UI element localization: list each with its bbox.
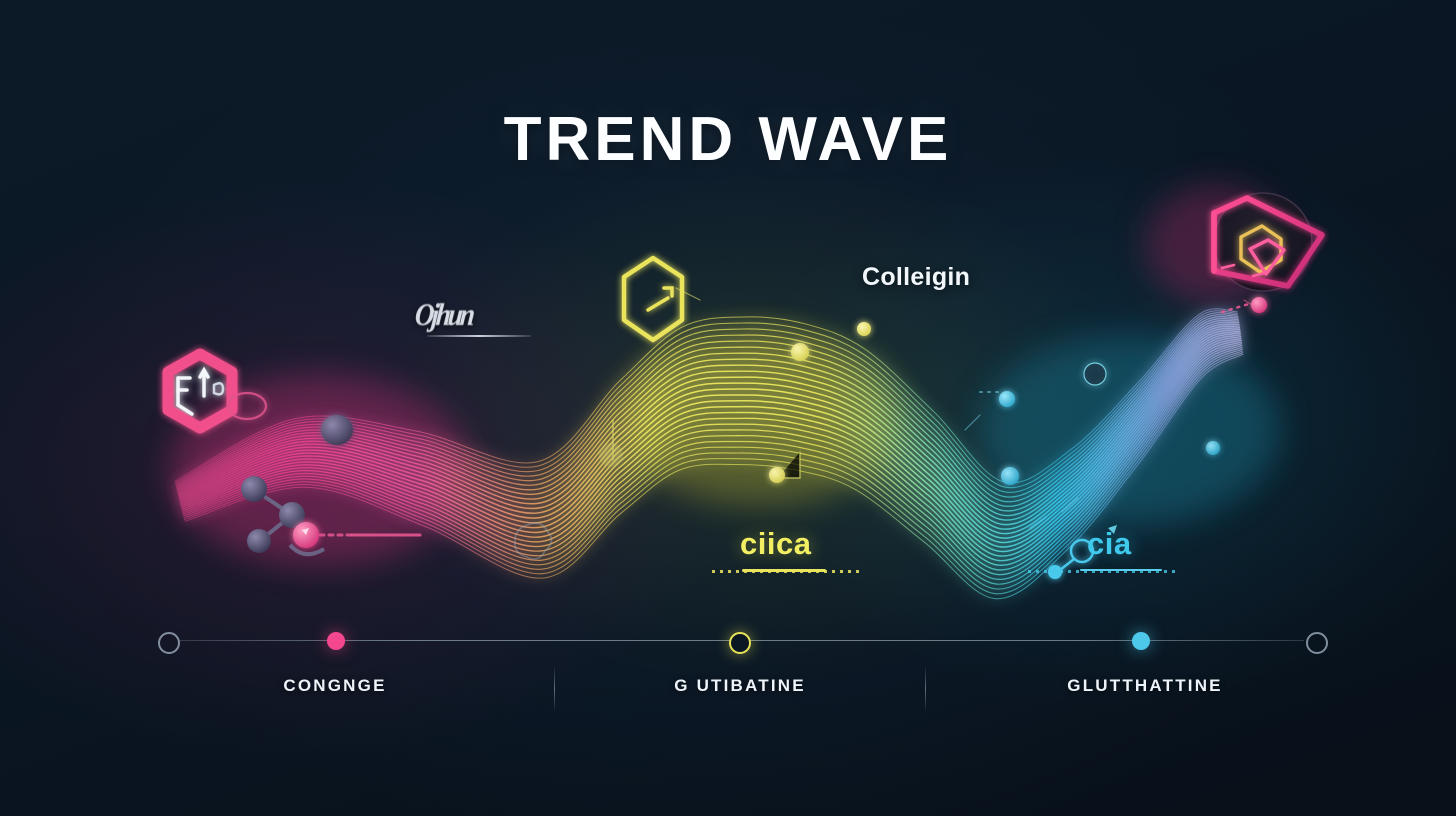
timeline-start-marker[interactable] [158, 632, 180, 654]
hexagon-outline-icon-yellow [624, 258, 682, 340]
isometric-cube-icon [1214, 193, 1322, 291]
timeline-divider-2 [925, 665, 926, 713]
timeline-end-marker[interactable] [1306, 632, 1328, 654]
dotted-connector [1222, 303, 1252, 312]
timeline-label-1[interactable]: CONGNGE [180, 676, 490, 696]
ambient-glow [170, 185, 1285, 565]
timeline-label-3[interactable]: GLUTTHATTINE [990, 676, 1300, 696]
collagen-label: Colleigin [862, 263, 970, 292]
collagen-label-text: Colleigin [862, 263, 970, 292]
cia-solid-rule [1080, 569, 1162, 571]
ciica-label: ciica [740, 526, 811, 562]
script-label-text: Ojhun [413, 298, 532, 334]
script-label: Ojhun [415, 300, 531, 337]
timeline-node-1[interactable] [327, 632, 345, 650]
banner-canvas: TREND WAVE Ojhun Colleigin ciica cia CON… [0, 0, 1456, 816]
timeline-node-2[interactable] [729, 632, 751, 654]
page-title: TREND WAVE [0, 104, 1456, 175]
ciica-label-text: ciica [740, 526, 811, 562]
cia-label: cia [1087, 526, 1132, 562]
timeline-label-2[interactable]: G UTIBATINE [590, 676, 890, 696]
ciica-solid-rule [742, 569, 826, 572]
timeline-node-3[interactable] [1132, 632, 1150, 650]
timeline-divider-1 [554, 665, 555, 713]
cia-label-text: cia [1087, 526, 1132, 562]
script-label-underline [427, 335, 531, 337]
